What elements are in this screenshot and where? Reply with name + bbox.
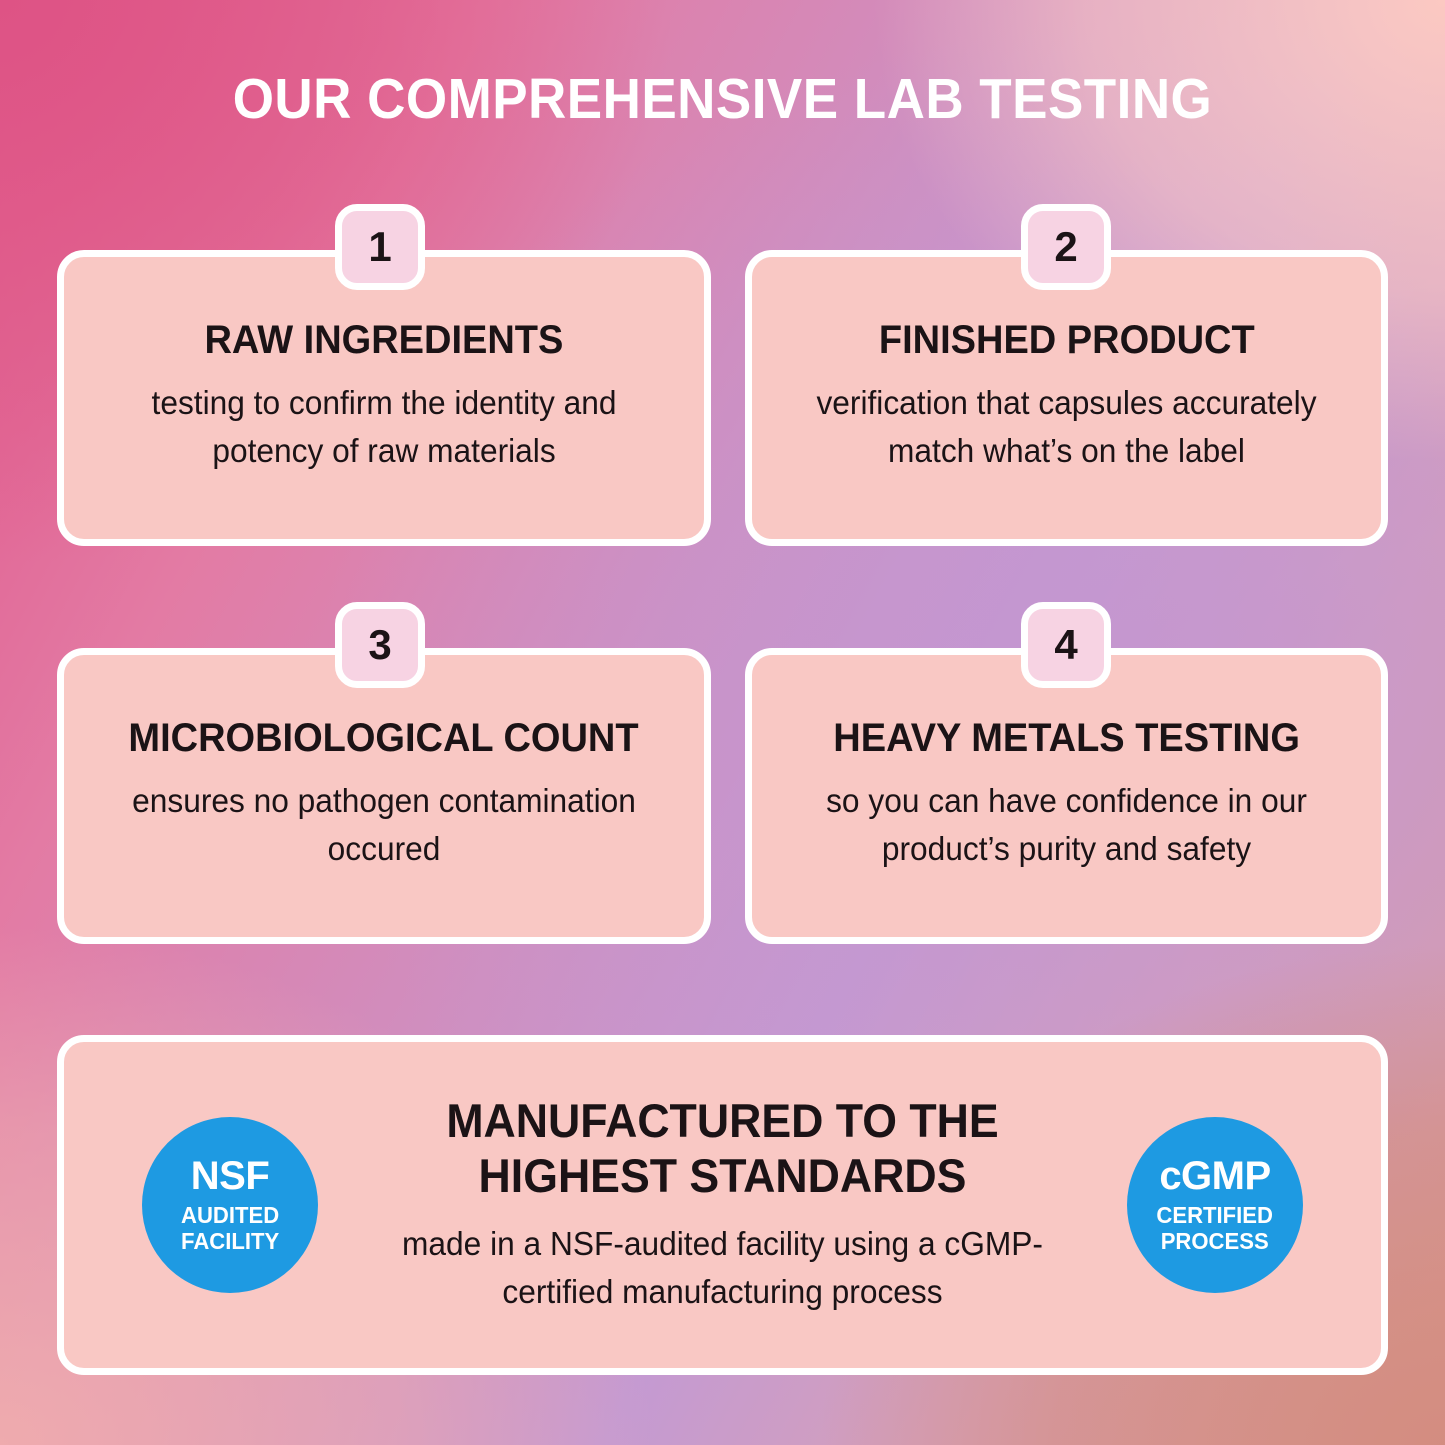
- step-4-heading: HEAVY METALS TESTING: [833, 717, 1300, 759]
- step-card-1: RAW INGREDIENTS testing to confirm the i…: [57, 250, 711, 546]
- nsf-audited-facility-seal-icon: NSF AUDITED FACILITY: [142, 1117, 318, 1293]
- nsf-seal-main-label: NSF: [191, 1156, 270, 1196]
- step-number-badge-4: 4: [1021, 602, 1111, 688]
- step-2-body: verification that capsules accurately ma…: [784, 379, 1349, 475]
- nsf-seal-sub-label: AUDITED FACILITY: [181, 1203, 279, 1255]
- panel-body: made in a NSF-audited facility using a c…: [348, 1220, 1098, 1318]
- cgmp-seal-sub-line1: CERTIFIED: [1157, 1203, 1274, 1229]
- cgmp-certified-process-seal-icon: cGMP CERTIFIED PROCESS: [1127, 1117, 1303, 1293]
- step-3-heading: MICROBIOLOGICAL COUNT: [129, 717, 639, 759]
- cgmp-seal-sub-label: CERTIFIED PROCESS: [1157, 1203, 1274, 1255]
- step-1-number: 1: [368, 223, 391, 271]
- step-2-number: 2: [1054, 223, 1077, 271]
- step-2-heading: FINISHED PRODUCT: [879, 319, 1255, 361]
- cgmp-seal-main-label: cGMP: [1159, 1156, 1270, 1196]
- step-1-body: testing to confirm the identity and pote…: [96, 379, 672, 475]
- panel-text-block: MANUFACTURED TO THE HIGHEST STANDARDS ma…: [318, 1093, 1127, 1318]
- step-card-4: HEAVY METALS TESTING so you can have con…: [745, 648, 1388, 944]
- step-card-3: MICROBIOLOGICAL COUNT ensures no pathoge…: [57, 648, 711, 944]
- nsf-seal-sub-line1: AUDITED: [181, 1203, 279, 1229]
- nsf-seal-sub-line2: FACILITY: [181, 1229, 279, 1255]
- step-card-2: FINISHED PRODUCT verification that capsu…: [745, 250, 1388, 546]
- step-4-body: so you can have confidence in our produc…: [784, 777, 1349, 873]
- page-title: OUR COMPREHENSIVE LAB TESTING: [51, 66, 1395, 132]
- step-number-badge-2: 2: [1021, 204, 1111, 290]
- step-number-badge-1: 1: [335, 204, 425, 290]
- infographic-page: OUR COMPREHENSIVE LAB TESTING RAW INGRED…: [0, 0, 1445, 1445]
- step-3-body: ensures no pathogen contamination occure…: [96, 777, 672, 873]
- cgmp-seal-sub-line2: PROCESS: [1157, 1229, 1274, 1255]
- panel-heading: MANUFACTURED TO THE HIGHEST STANDARDS: [352, 1093, 1094, 1204]
- step-number-badge-3: 3: [335, 602, 425, 688]
- step-4-number: 4: [1054, 621, 1077, 669]
- manufacturing-standards-panel: NSF AUDITED FACILITY MANUFACTURED TO THE…: [57, 1035, 1388, 1375]
- step-3-number: 3: [368, 621, 391, 669]
- step-1-heading: RAW INGREDIENTS: [205, 319, 564, 361]
